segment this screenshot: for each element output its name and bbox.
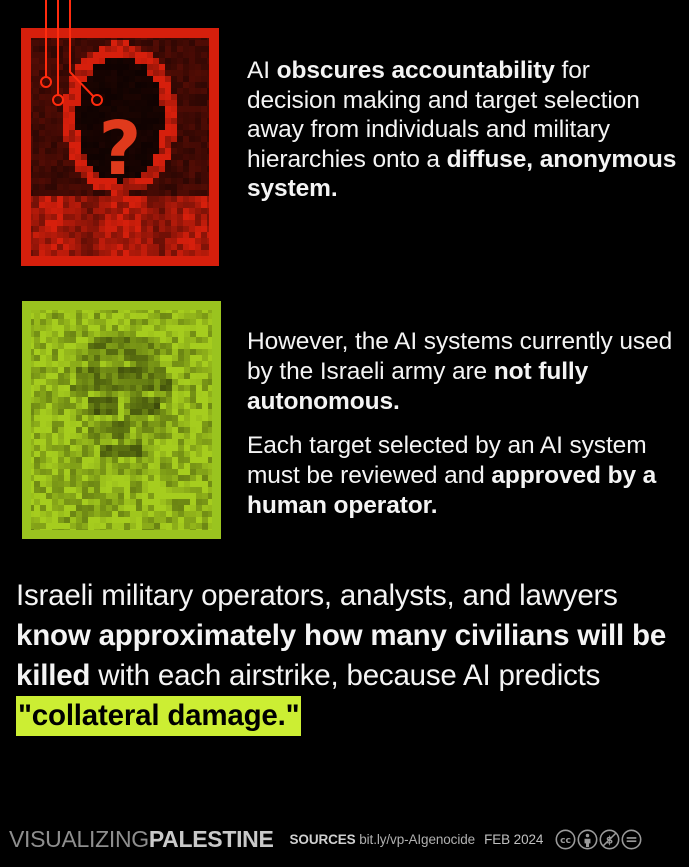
paragraph-group-autonomy: However, the AI systems currently used b… [247,327,677,521]
paragraph-accountability: AI obscures accountability for decision … [247,56,677,204]
red-portrait-image: ? [21,28,219,266]
brand-logo[interactable]: VISUALIZINGPALESTINE [9,826,274,853]
sources-line: SOURCES bit.ly/vp-AIgenocideFEB 2024 [290,832,544,847]
creative-commons-badges: cc $ [555,829,642,850]
block3-lead: Israeli military operators, analysts, an… [16,579,618,612]
brand-visualizing: VISUALIZING [9,826,149,852]
sources-label: SOURCES [290,832,356,847]
poster-root: ? AI obscures accountability for decisio… [0,0,689,867]
cc-by-icon [577,829,598,850]
paragraph-not-fully-autonomous: However, the AI systems currently used b… [247,327,677,416]
green-image-frame [22,301,221,539]
cc-nc-icon: $ [599,829,620,850]
question-mark-icon: ? [21,112,219,186]
brand-palestine: PALESTINE [149,826,274,852]
paragraph-human-operator: Each target selected by an AI system mus… [247,431,677,520]
block1-bold-1: obscures accountability [277,57,555,84]
green-portrait-image [22,301,221,539]
cc-nd-icon [621,829,642,850]
cc-icon: cc [555,829,576,850]
block2-p1-lead: However, the AI systems currently used b… [247,328,672,385]
green-image-panel [0,295,240,545]
block1-lead: AI [247,57,277,84]
red-image-panel: ? [0,0,240,280]
svg-text:cc: cc [560,835,571,846]
collateral-damage-highlight: "collateral damage." [16,696,301,736]
block3-mid: with each airstrike, because AI predicts [90,659,600,692]
sources-url[interactable]: bit.ly/vp-AIgenocide [359,832,475,847]
footer-bar: VISUALIZINGPALESTINE SOURCES bit.ly/vp-A… [0,811,689,867]
publication-date: FEB 2024 [484,832,543,847]
paragraph-collateral-damage: Israeli military operators, analysts, an… [16,576,681,736]
